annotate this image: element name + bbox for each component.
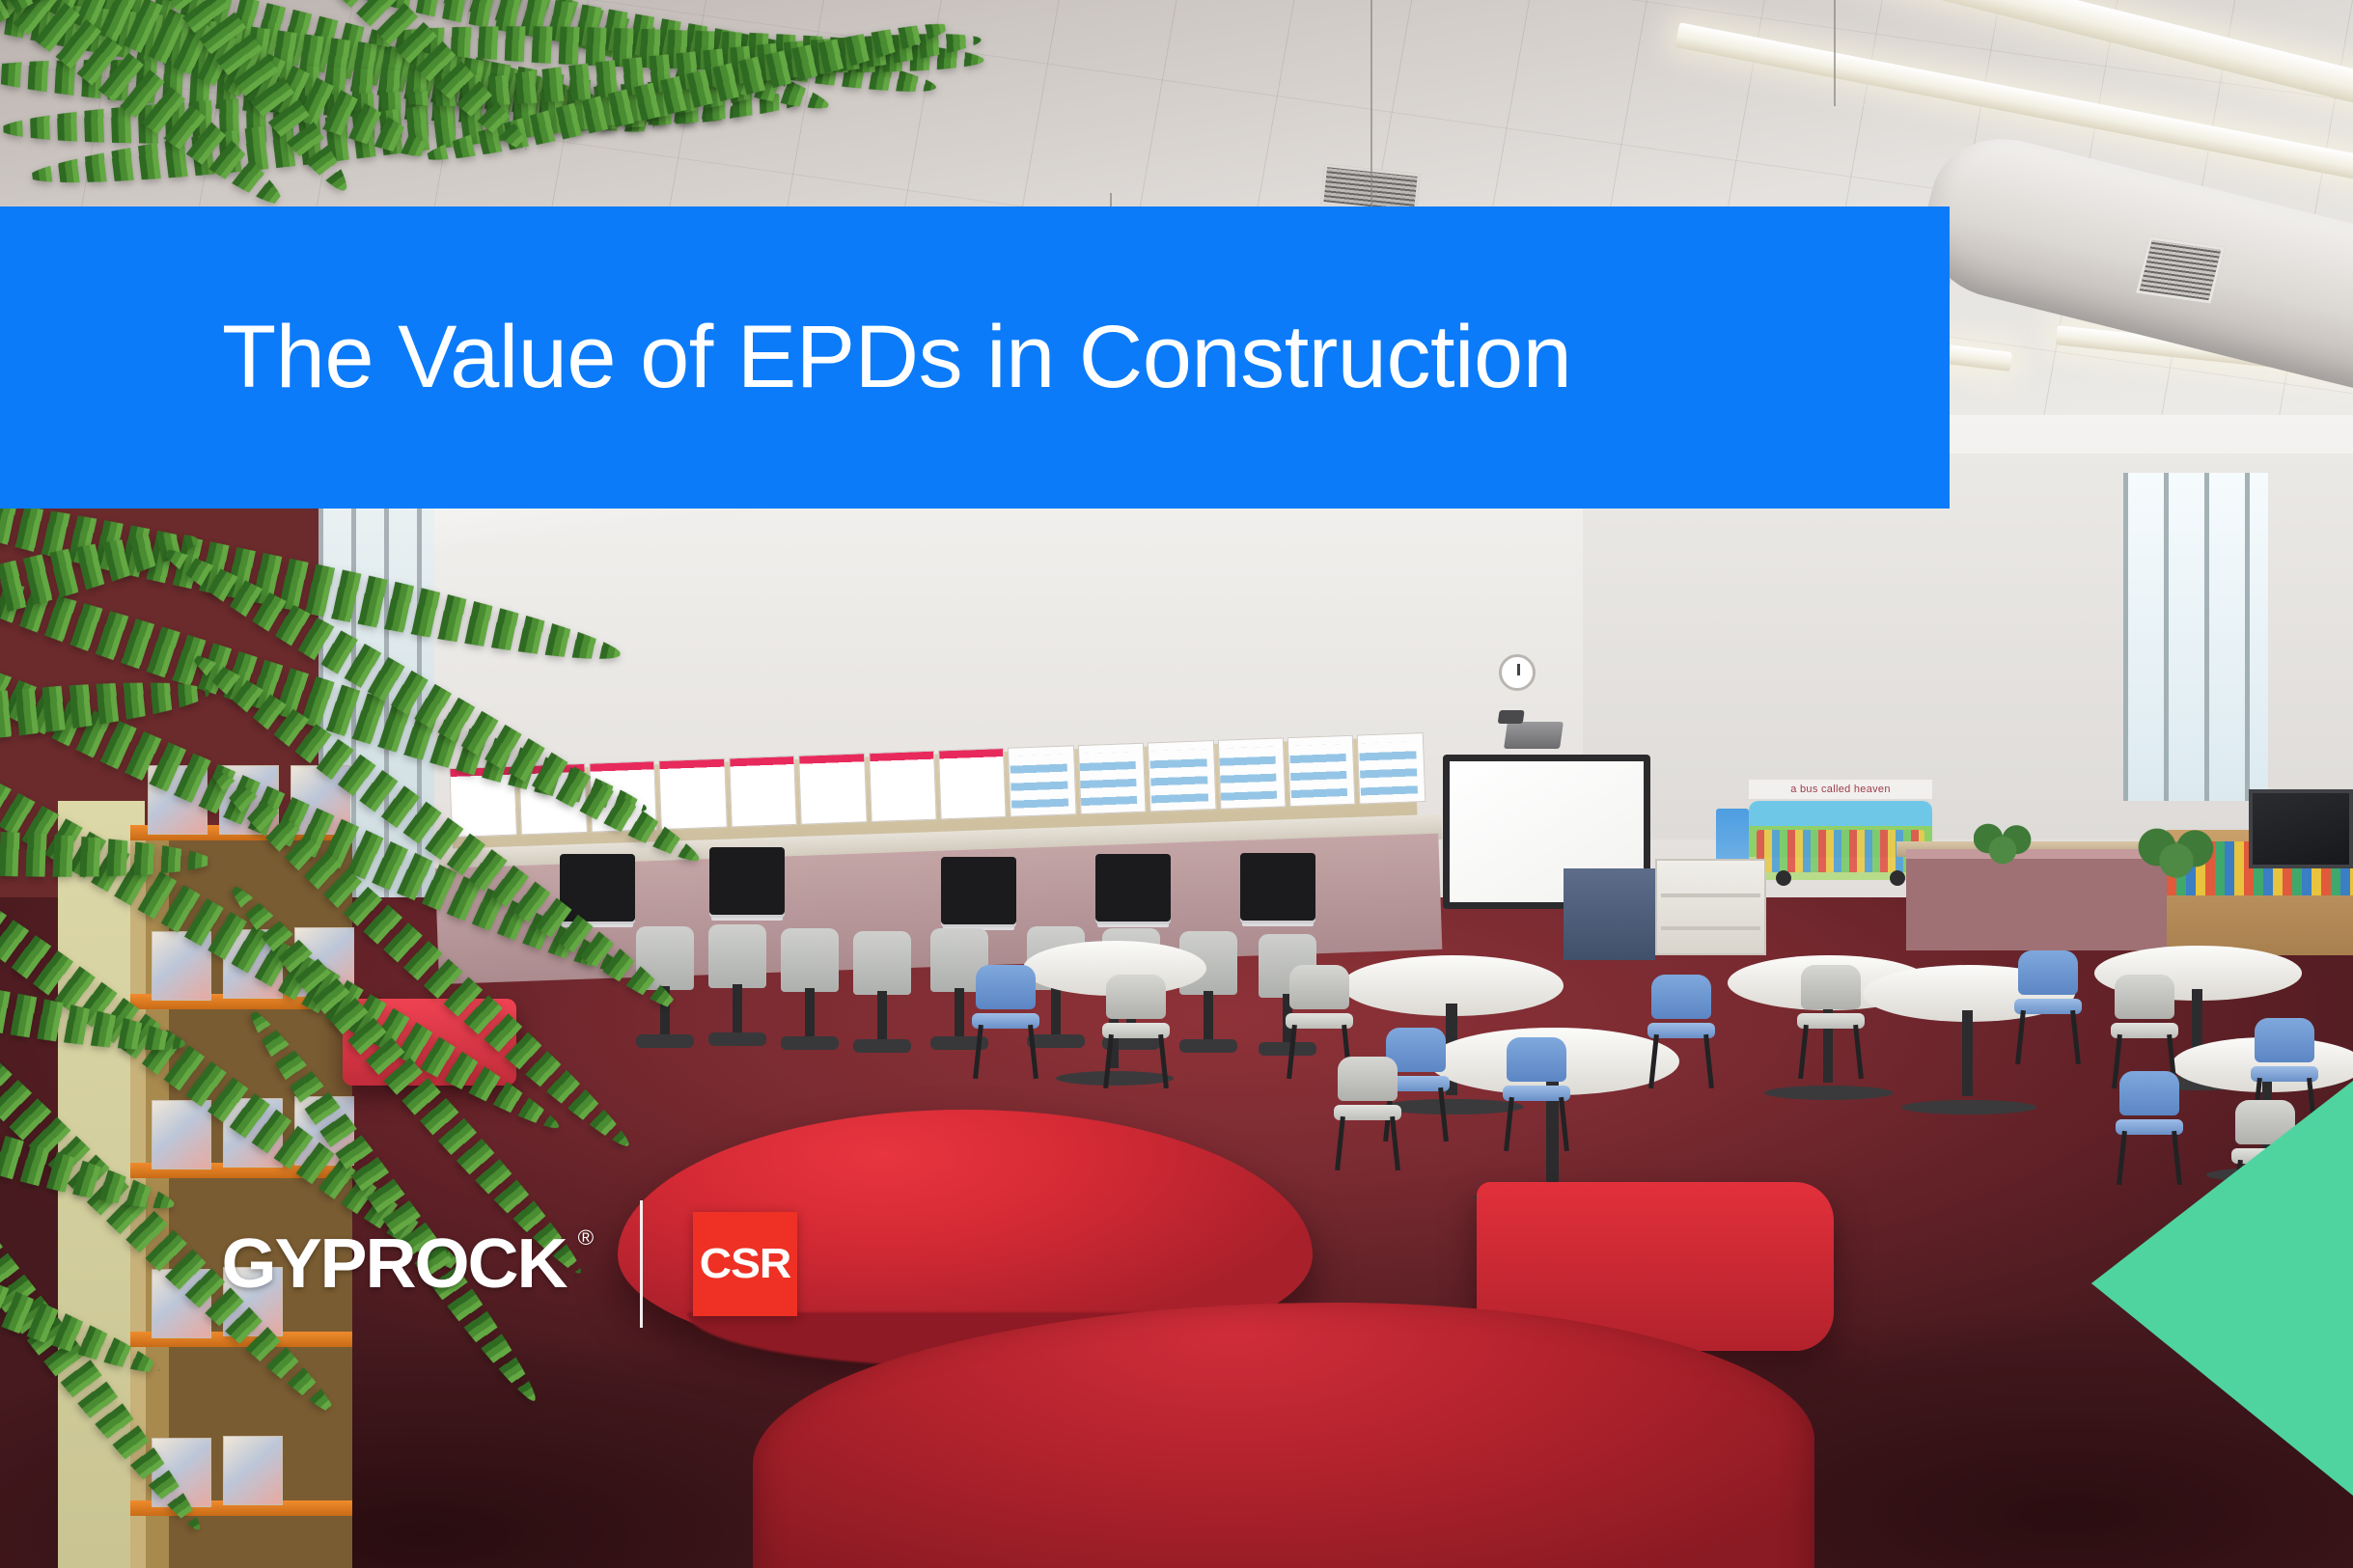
classroom-chair bbox=[1501, 1037, 1572, 1151]
title-slide: a bus called heaven bbox=[0, 0, 2353, 1568]
wall-mounted-tv bbox=[2249, 789, 2353, 868]
classroom-chair bbox=[1646, 975, 1717, 1088]
title-banner: The Value of EPDs in Construction bbox=[0, 206, 1950, 509]
classroom-chair bbox=[2229, 1100, 2301, 1214]
wall-poster bbox=[1357, 732, 1426, 804]
wall-poster bbox=[1148, 740, 1216, 812]
window-right bbox=[2123, 473, 2268, 801]
potted-plant bbox=[2138, 820, 2215, 888]
csr-wordmark: CSR bbox=[700, 1243, 790, 1285]
classroom-chair bbox=[1795, 965, 1867, 1079]
wall-poster bbox=[1008, 745, 1076, 816]
classroom-chair bbox=[1100, 975, 1172, 1088]
wall-clock bbox=[1499, 654, 1536, 691]
palm-plant-lower bbox=[0, 415, 811, 1568]
classroom-chair bbox=[2114, 1071, 2185, 1185]
book-trolley bbox=[1564, 868, 1655, 960]
bus-mural: a bus called heaven bbox=[1749, 801, 1932, 880]
registered-trademark-icon: ® bbox=[578, 1227, 595, 1249]
ceiling-projector bbox=[1504, 722, 1564, 749]
mural-caption: a bus called heaven bbox=[1749, 780, 1932, 799]
page-title: The Value of EPDs in Construction bbox=[0, 307, 1571, 408]
duct-vent-grille bbox=[2136, 236, 2225, 303]
potted-plant bbox=[1974, 815, 2032, 873]
desktop-computer bbox=[1095, 854, 1171, 922]
logo-divider bbox=[640, 1200, 643, 1328]
csr-logo: CSR bbox=[693, 1212, 797, 1316]
classroom-chair bbox=[970, 965, 1041, 1079]
light-suspension-wire bbox=[1834, 0, 1836, 106]
gyprock-logo: GYPROCK® bbox=[221, 1229, 566, 1299]
wall-poster bbox=[1078, 743, 1147, 814]
display-shelf bbox=[1655, 859, 1766, 955]
classroom-chair bbox=[2012, 950, 2084, 1064]
wall-poster bbox=[1287, 735, 1356, 807]
gyprock-wordmark: GYPROCK bbox=[221, 1225, 566, 1303]
wall-poster bbox=[1217, 737, 1286, 809]
classroom-chair bbox=[1332, 1057, 1403, 1170]
logo-lockup: GYPROCK® CSR bbox=[225, 1199, 797, 1329]
desktop-computer bbox=[1240, 853, 1315, 921]
